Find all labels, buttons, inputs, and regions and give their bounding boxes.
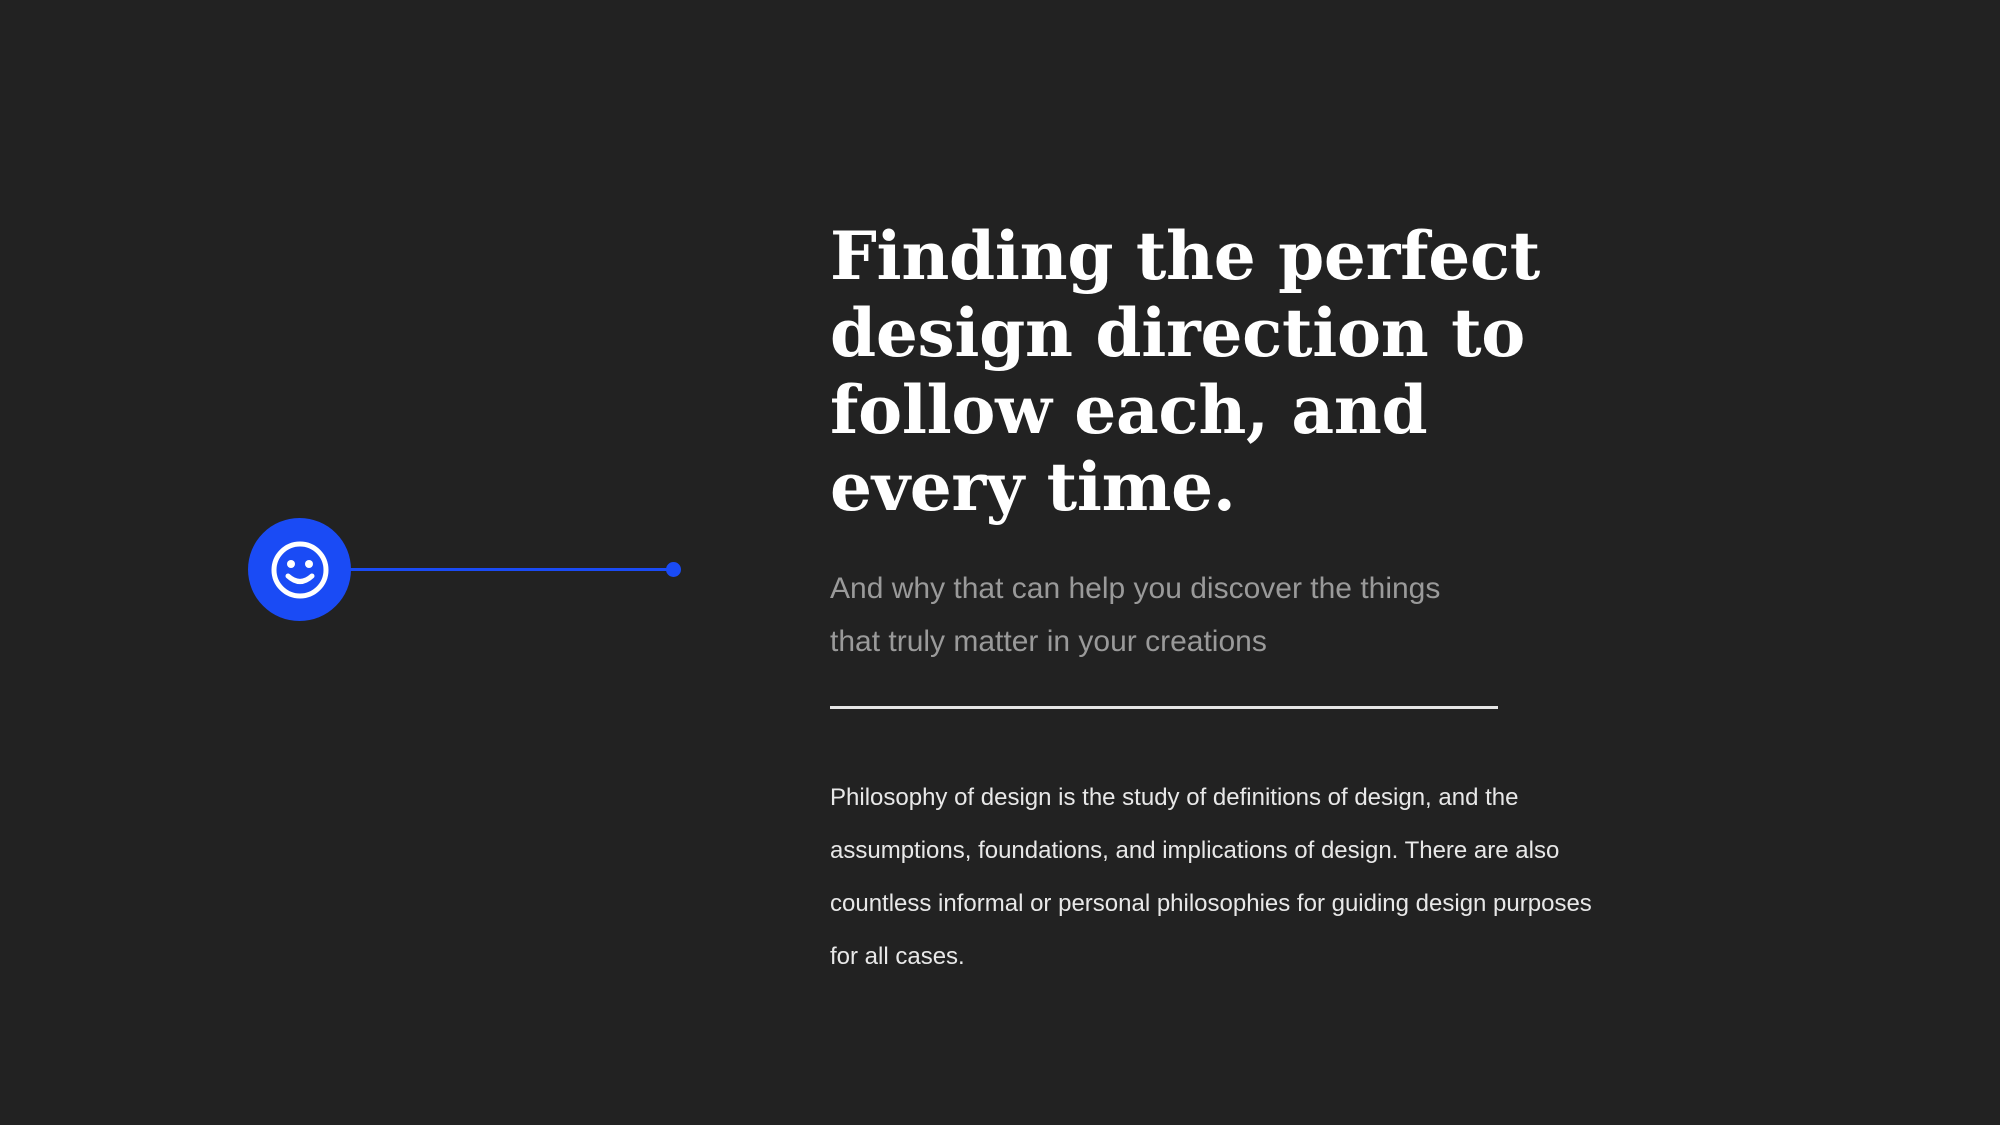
smiley-badge[interactable] [248, 518, 351, 621]
content-column: Finding the perfect design direction to … [830, 218, 1830, 983]
divider [830, 706, 1498, 709]
slide-canvas: Finding the perfect design direction to … [0, 0, 2000, 1125]
smiley-connector-graphic [248, 518, 688, 622]
connector-endpoint-dot [666, 562, 681, 577]
page-title: Finding the perfect design direction to … [830, 218, 1630, 526]
connector-line [348, 568, 676, 571]
smiley-face-icon [269, 539, 331, 601]
page-subtitle: And why that can help you discover the t… [830, 562, 1450, 668]
body-paragraph: Philosophy of design is the study of def… [830, 771, 1620, 983]
